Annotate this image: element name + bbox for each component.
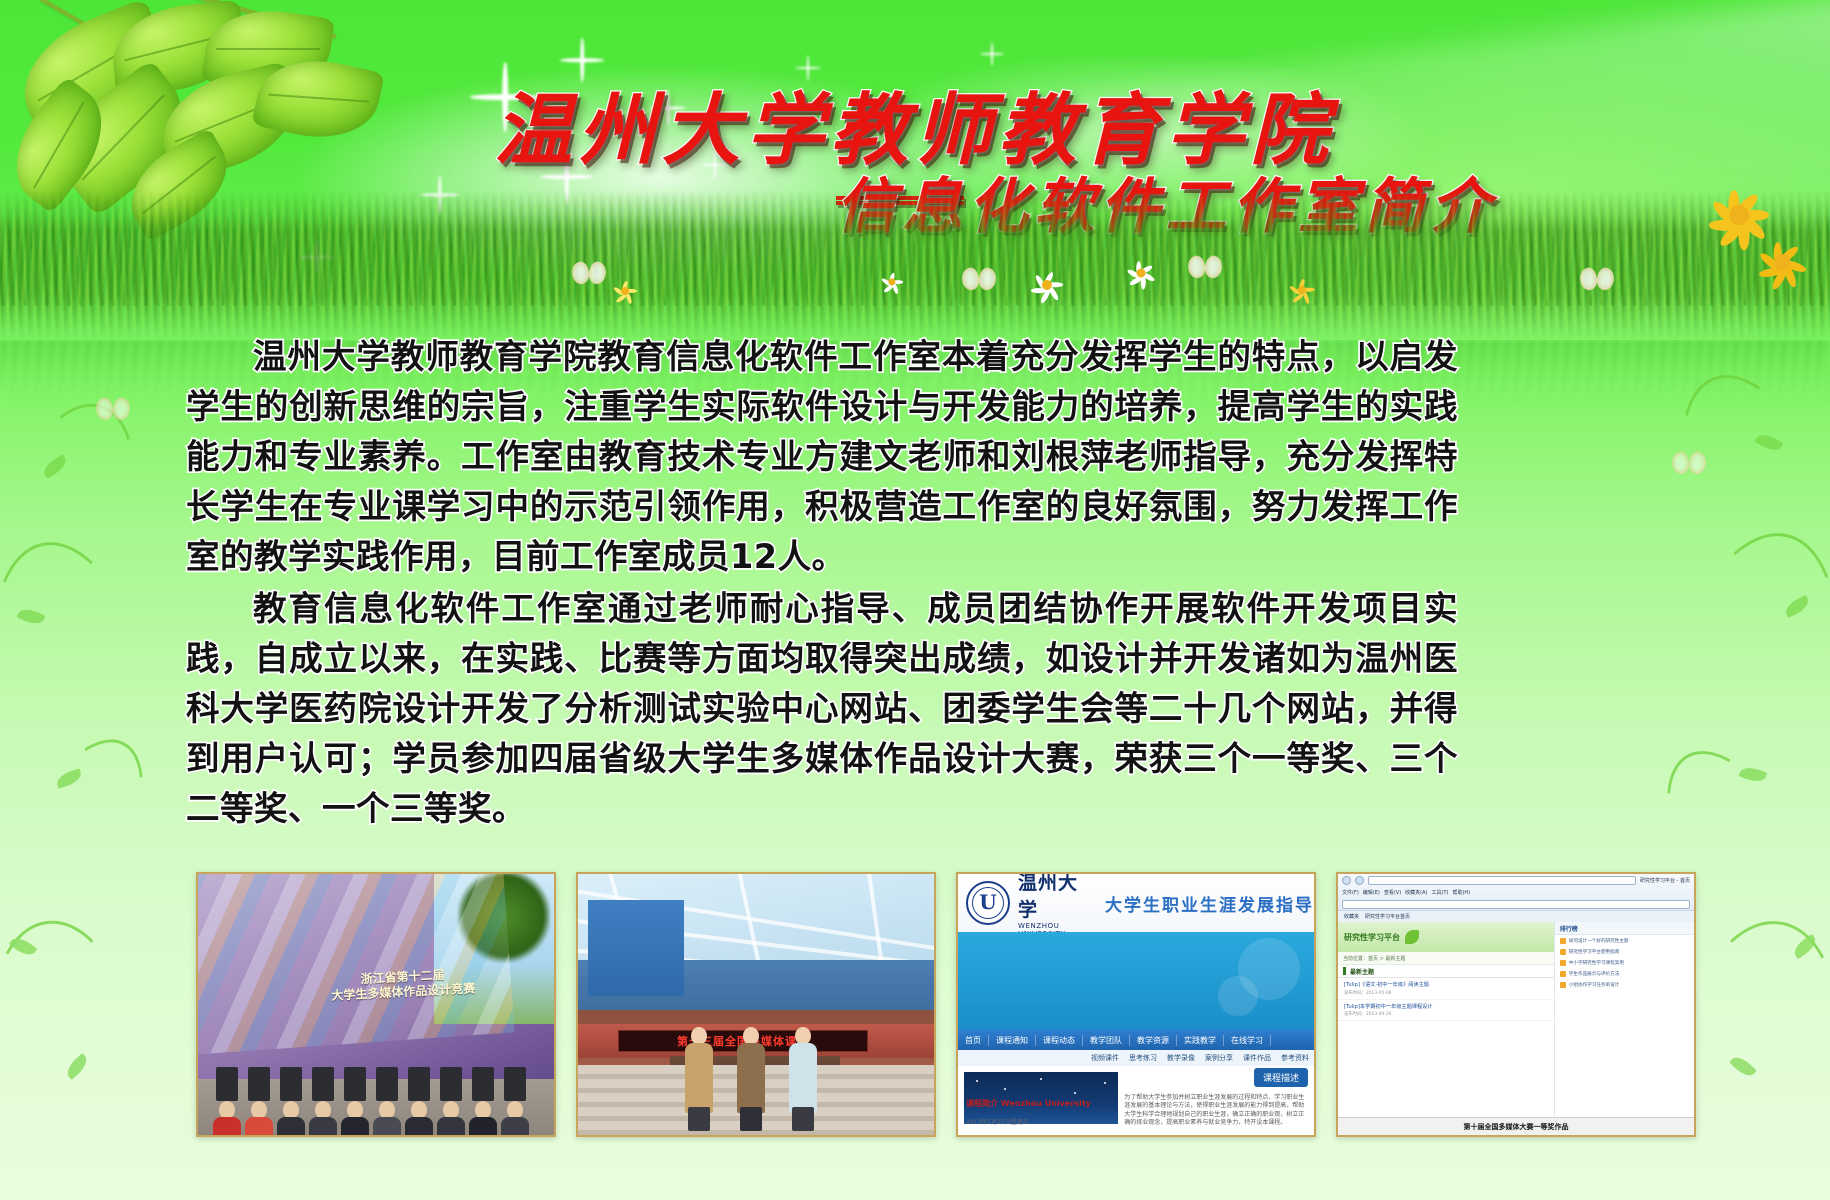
menu-item-tools[interactable]: 工具(T)	[1432, 889, 1449, 896]
flower-icon	[1288, 276, 1316, 304]
subnav-item[interactable]: 参考资料	[1276, 1053, 1314, 1063]
sidebar-column: 排行榜 如何设计一个好的研究性主题 研究性学习平台使用指南 中小学研究性学习课程…	[1555, 922, 1694, 1117]
list-item-title[interactable]: [Tulip]《语文·初中一年级》阅读主题	[1344, 981, 1548, 988]
site-nav[interactable]: 首页 课程通知 课程动态 教学团队 教学资源 实践教学 在线学习	[958, 1030, 1314, 1050]
paragraph-1: 温州大学教师教育学院教育信息化软件工作室本着充分发挥学生的特点，以启发学生的创新…	[186, 332, 1458, 582]
person	[684, 1027, 714, 1131]
list-item-meta: 发布时间：2013-05-08	[1344, 990, 1548, 996]
sidebar-item-label[interactable]: 如何设计一个好的研究性主题	[1569, 938, 1629, 944]
back-icon[interactable]	[1342, 876, 1351, 885]
subnav-item[interactable]: 课件作品	[1238, 1053, 1276, 1063]
flower-icon	[880, 270, 904, 294]
menu-item-edit[interactable]: 编辑(E)	[1363, 889, 1380, 896]
site-slogan: 大学生职业生涯发展指导	[1105, 891, 1314, 916]
paragraph-2: 教育信息化软件工作室通过老师耐心指导、成员团结协作开展软件开发项目实践，自成立以…	[186, 584, 1458, 834]
blue-panel	[588, 900, 684, 996]
main-column: 研究性学习平台 当前位置：首页 > 最新主题 最新主题 [Tulip]《语文·初…	[1338, 922, 1555, 1117]
flower-icon	[1030, 268, 1064, 302]
breadcrumb: 当前位置：首页 > 最新主题	[1338, 952, 1554, 965]
grass-icon	[0, 190, 1830, 340]
rank-icon	[1560, 960, 1566, 966]
butterfly-icon	[1188, 256, 1222, 280]
university-name-cn: 温州大学	[1018, 872, 1091, 922]
date-caption: 2013年5月25日星期五	[966, 1119, 1110, 1127]
logo-letter: U	[979, 890, 996, 914]
site-subnav[interactable]: 视频课件 思考练习 教学录像 案例分享 课件作品 参考资料	[958, 1050, 1314, 1066]
sidebar-list-item[interactable]: 如何设计一个好的研究性主题	[1555, 935, 1694, 946]
university-logo-icon: U	[966, 881, 1010, 925]
sidebar-item-label[interactable]: 中小学研究性学习课程案例	[1569, 960, 1624, 966]
people-group	[674, 1023, 844, 1131]
nav-item[interactable]: 实践教学	[1177, 1035, 1224, 1046]
photo-career-website[interactable]: U 温州大学 WENZHOU UNIVERSITY 大学生职业生涯发展指导 首页	[956, 872, 1316, 1137]
rank-icon	[1560, 982, 1566, 988]
menu-item-help[interactable]: 帮助(H)	[1452, 889, 1470, 896]
flower-icon	[612, 278, 638, 304]
menu-item-file[interactable]: 文件(F)	[1342, 889, 1359, 896]
main-section-title: 最新主题	[1350, 967, 1374, 976]
browser-chrome: 研究性学习平台 - 首页 文件(F) 编辑(E) 查看(V) 收藏夹(A) 工具…	[1338, 874, 1694, 922]
leaf-icon	[1405, 930, 1419, 944]
site-right-column: 课程描述 为了帮助大学生参加并树立职业生涯发展的过程和特点、学习职业生涯发展的基…	[1118, 1066, 1314, 1135]
site-banner: 研究性学习平台	[1338, 922, 1554, 952]
sidebar-item-label[interactable]: 小组协作学习任务单设计	[1569, 982, 1620, 988]
photo-competition-group[interactable]: 浙江省第十二届 大学生多媒体作品设计竞赛	[196, 872, 556, 1137]
university-name: 温州大学 WENZHOU UNIVERSITY	[1018, 872, 1091, 938]
browser-search-row	[1338, 898, 1694, 910]
nav-item[interactable]: 在线学习	[1224, 1035, 1271, 1046]
photo-caption: 第十届全国多媒体大赛一等奖作品	[1464, 1122, 1569, 1132]
sidebar-section-title: 排行榜	[1560, 924, 1578, 933]
rank-icon	[1560, 949, 1566, 955]
bookmark-platform[interactable]: 研究性学习平台首页	[1365, 913, 1410, 920]
person	[788, 1027, 818, 1131]
header-banner: 温州大学教师教育学院 信息化软件工作室简介	[0, 0, 1830, 340]
menu-item-favorites[interactable]: 收藏夹(A)	[1405, 889, 1427, 896]
sidebar-list-item[interactable]: 中小学研究性学习课程案例	[1555, 957, 1694, 968]
page-content: 研究性学习平台 当前位置：首页 > 最新主题 最新主题 [Tulip]《语文·初…	[1338, 922, 1694, 1117]
photo-learning-platform[interactable]: 研究性学习平台 - 首页 文件(F) 编辑(E) 查看(V) 收藏夹(A) 工具…	[1336, 872, 1696, 1137]
list-item-meta: 发布时间：2013-04-26	[1344, 1011, 1548, 1017]
vine-icon	[0, 400, 200, 1160]
nav-item[interactable]: 教学团队	[1083, 1035, 1130, 1046]
rank-icon	[1560, 971, 1566, 977]
list-item-title[interactable]: [Tulip]本学期初中一年级主题课程设计	[1344, 1003, 1548, 1010]
subnav-item[interactable]: 教学录像	[1162, 1053, 1200, 1063]
browser-bookmark-bar: 收藏夹 研究性学习平台首页	[1338, 910, 1694, 922]
list-item[interactable]: [Tulip]本学期初中一年级主题课程设计 发布时间：2013-04-26	[1338, 1000, 1554, 1022]
hero-banner	[958, 932, 1314, 1030]
forward-icon[interactable]	[1355, 876, 1364, 885]
bookmark-favorites[interactable]: 收藏夹	[1344, 913, 1359, 920]
sidebar-list-item[interactable]: 学生作品展示与评价方法	[1555, 968, 1694, 979]
butterfly-icon	[572, 262, 606, 286]
nav-item[interactable]: 课程通知	[989, 1035, 1036, 1046]
sidebar-section-header: 排行榜	[1555, 922, 1694, 935]
article-body: 温州大学教师教育学院教育信息化软件工作室本着充分发挥学生的特点，以启发学生的创新…	[186, 332, 1458, 834]
butterfly-icon	[1672, 452, 1706, 476]
sidebar-list-item[interactable]: 研究性学习平台使用指南	[1555, 946, 1694, 957]
butterfly-icon	[1580, 268, 1614, 292]
site-header: U 温州大学 WENZHOU UNIVERSITY 大学生职业生涯发展指导	[958, 874, 1314, 932]
main-section-header: 最新主题	[1338, 965, 1554, 978]
subnav-item[interactable]: 案例分享	[1200, 1053, 1238, 1063]
search-box[interactable]	[1342, 900, 1690, 909]
nav-item[interactable]: 教学资源	[1130, 1035, 1177, 1046]
address-bar[interactable]	[1368, 876, 1636, 885]
flower-icon	[1126, 258, 1156, 288]
flower-icon	[1756, 236, 1808, 288]
section-title-badge: 课程描述	[1254, 1068, 1308, 1087]
menu-item-view[interactable]: 查看(V)	[1384, 889, 1401, 896]
nav-item[interactable]: 首页	[958, 1035, 989, 1046]
photo-caption-bar: 第十届全国多媒体大赛一等奖作品	[1338, 1117, 1694, 1135]
photo-venue-entrance[interactable]: 第十三届全国多媒体课件	[576, 872, 936, 1137]
browser-address-row: 研究性学习平台 - 首页	[1338, 874, 1694, 886]
butterfly-icon	[96, 398, 130, 422]
sidebar-item-label[interactable]: 学生作品展示与评价方法	[1569, 971, 1620, 977]
subnav-item[interactable]: 视频课件	[1086, 1053, 1124, 1063]
intro-text: 为了帮助大学生参加并树立职业生涯发展的过程和特点、学习职业生涯发展的基本理论与方…	[1124, 1094, 1308, 1128]
sidebar-item-label[interactable]: 研究性学习平台使用指南	[1569, 949, 1620, 955]
nav-item[interactable]: 课程动态	[1036, 1035, 1083, 1046]
subnav-item[interactable]: 思考练习	[1124, 1053, 1162, 1063]
photo-gallery: 浙江省第十二届 大学生多媒体作品设计竞赛	[196, 872, 1696, 1137]
site-body: 课程简介 Wenzhou University 2013年5月25日星期五 课程…	[958, 1066, 1314, 1135]
browser-menu-row: 文件(F) 编辑(E) 查看(V) 收藏夹(A) 工具(T) 帮助(H)	[1338, 886, 1694, 898]
poster-canvas: 温州大学教师教育学院 信息化软件工作室简介	[0, 0, 1830, 1200]
people-group	[206, 951, 550, 1101]
site-left-column: 课程简介 Wenzhou University 2013年5月25日星期五	[958, 1066, 1118, 1135]
person	[736, 1027, 766, 1131]
rank-icon	[1560, 938, 1566, 944]
butterfly-icon	[962, 268, 996, 292]
sidebar-list-item[interactable]: 小组协作学习任务单设计	[1555, 979, 1694, 990]
list-item[interactable]: [Tulip]《语文·初中一年级》阅读主题 发布时间：2013-05-08	[1338, 978, 1554, 1000]
red-note: 课程简介 Wenzhou University	[966, 1098, 1091, 1109]
tab-title: 研究性学习平台 - 首页	[1640, 877, 1690, 884]
site-banner-title: 研究性学习平台	[1344, 932, 1400, 943]
